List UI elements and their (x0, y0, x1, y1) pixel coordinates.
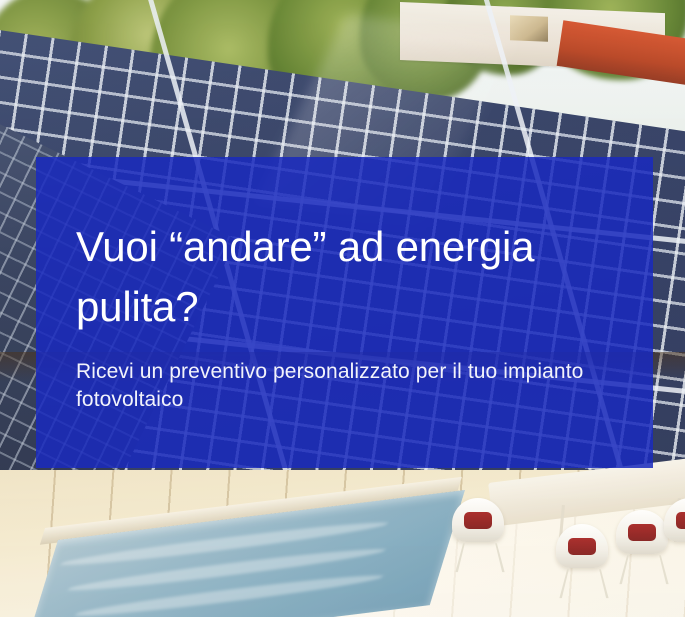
hero-overlay-card: Vuoi “andare” ad energia pulita? Ricevi … (36, 157, 653, 468)
chair-legs (619, 555, 668, 584)
chair-cushion (676, 512, 685, 529)
chair-legs (455, 543, 504, 572)
hero-headline: Vuoi “andare” ad energia pulita? (76, 217, 601, 336)
pool-step (66, 544, 387, 596)
chair-cushion (568, 538, 596, 555)
chair-cushion (628, 524, 656, 541)
chair-legs (559, 569, 608, 598)
hero-subheadline: Ricevi un preventivo personalizzato per … (76, 358, 596, 414)
chair-cushion (464, 512, 492, 529)
building-window (510, 15, 548, 42)
hero-banner: Vuoi “andare” ad energia pulita? Ricevi … (0, 0, 685, 617)
